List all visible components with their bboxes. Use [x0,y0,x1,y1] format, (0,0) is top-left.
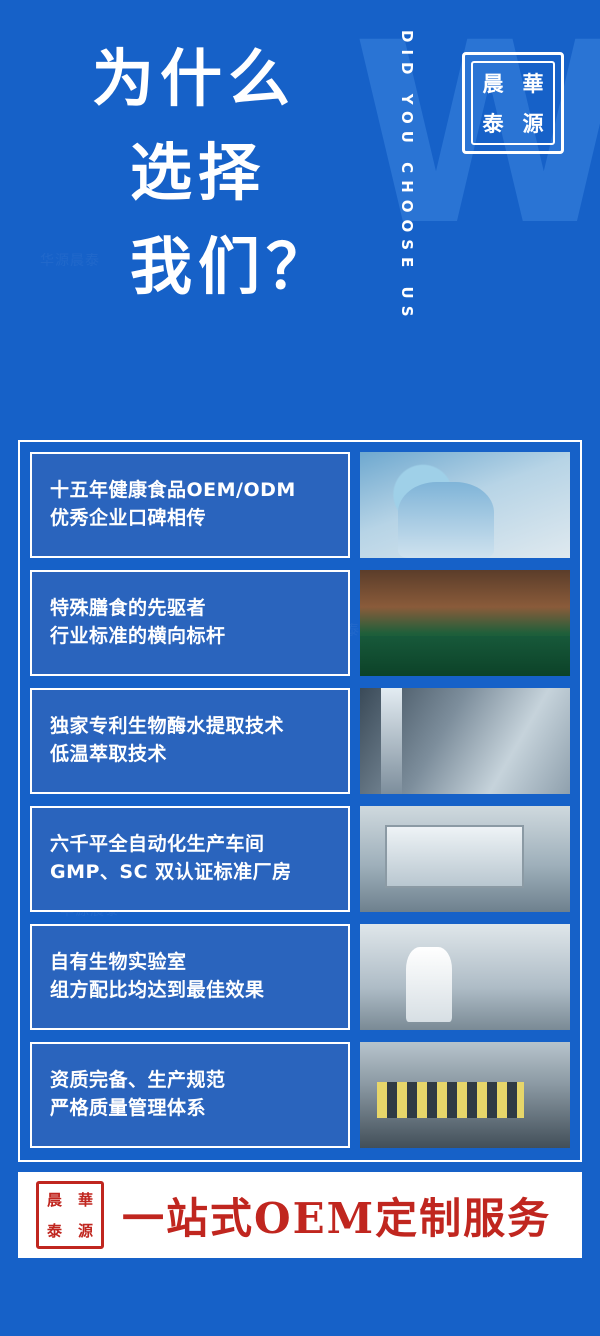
feature-line-2: GMP、SC 双认证标准厂房 [50,859,330,887]
list-item: 特殊膳食的先驱者 行业标准的横向标杆 [30,570,570,676]
feature-line-1: 特殊膳食的先驱者 [50,595,330,623]
poster-header: 为什么 选择 我们？ DID YOU CHOOSE US 晨 華 泰 源 [0,0,600,40]
footer-bar: 晨 華 泰 源 一站式OEM定制服务 [18,1172,582,1258]
watermark-text: 华源晨泰 [40,250,100,270]
brand-logo-inner: 晨 華 泰 源 [471,61,555,145]
feature-text-block: 特殊膳食的先驱者 行业标准的横向标杆 [30,570,350,676]
list-item: 独家专利生物酶水提取技术 低温萃取技术 [30,688,570,794]
title-line-3: 我们？ [130,236,382,298]
filling-line-photo [360,688,570,794]
title-line-1: 为什么 [92,48,382,110]
poster-root: WHY 华源晨泰 华源晨泰 华源晨泰 华源晨泰 华源晨泰 华源晨泰 为什么 选择… [0,0,600,1336]
feature-line-2: 低温萃取技术 [50,741,330,769]
lab-technician-photo [360,452,570,558]
list-item: 六千平全自动化生产车间 GMP、SC 双认证标准厂房 [30,806,570,912]
feature-line-1: 十五年健康食品OEM/ODM [50,477,330,505]
feature-text-block: 自有生物实验室 组方配比均达到最佳效果 [30,924,350,1030]
page-title: 为什么 选择 我们？ [92,48,382,298]
logo-char-4: 源 [523,108,544,138]
feature-line-1: 六千平全自动化生产车间 [50,831,330,859]
footer-stamp-char-4: 源 [78,1220,93,1241]
vertical-english-subtitle: DID YOU CHOOSE US [398,30,416,400]
feature-line-2: 严格质量管理体系 [50,1095,330,1123]
conference-hall-photo [360,570,570,676]
brand-logo-stamp: 晨 華 泰 源 [462,52,564,154]
feature-line-2: 组方配比均达到最佳效果 [50,977,330,1005]
footer-stamp-logo: 晨 華 泰 源 [36,1181,104,1249]
cleanroom-workshop-photo [360,806,570,912]
title-line-2: 选择 [130,142,382,204]
feature-line-1: 独家专利生物酶水提取技术 [50,713,330,741]
footer-stamp-char-2: 華 [78,1189,93,1210]
feature-text-block: 六千平全自动化生产车间 GMP、SC 双认证标准厂房 [30,806,350,912]
logo-char-2: 華 [523,68,544,98]
footer-stamp-char-1: 晨 [47,1189,62,1210]
footer-slogan: 一站式OEM定制服务 [122,1185,551,1246]
feature-line-2: 行业标准的横向标杆 [50,623,330,651]
feature-line-1: 资质完备、生产规范 [50,1067,330,1095]
tablet-packaging-photo [360,1042,570,1148]
logo-char-3: 泰 [483,108,504,138]
feature-line-2: 优秀企业口碑相传 [50,505,330,533]
list-item: 自有生物实验室 组方配比均达到最佳效果 [30,924,570,1030]
feature-text-block: 独家专利生物酶水提取技术 低温萃取技术 [30,688,350,794]
list-item: 资质完备、生产规范 严格质量管理体系 [30,1042,570,1148]
logo-char-1: 晨 [483,68,504,98]
footer-stamp-char-3: 泰 [47,1220,62,1241]
feature-text-block: 资质完备、生产规范 严格质量管理体系 [30,1042,350,1148]
feature-text-block: 十五年健康食品OEM/ODM 优秀企业口碑相传 [30,452,350,558]
list-item: 十五年健康食品OEM/ODM 优秀企业口碑相传 [30,452,570,558]
features-list: 十五年健康食品OEM/ODM 优秀企业口碑相传 特殊膳食的先驱者 行业标准的横向… [30,452,570,1160]
feature-line-1: 自有生物实验室 [50,949,330,977]
bottom-background-fill [0,1258,600,1336]
biology-laboratory-photo [360,924,570,1030]
